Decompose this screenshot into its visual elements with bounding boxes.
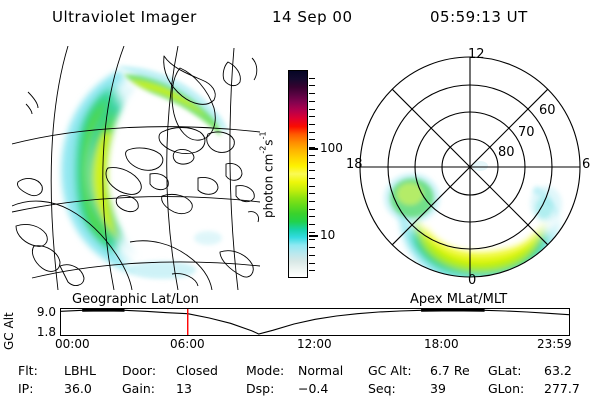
polar-dial-panel[interactable]: 121860607080	[340, 46, 596, 292]
status-value-glon: 277.7	[544, 380, 580, 397]
status-label-mode: Mode:	[246, 362, 284, 379]
orbit-y-axis-name: GC Alt	[2, 306, 16, 350]
status-block: Flt:LBHLDoor:ClosedMode:NormalGC Alt:6.7…	[0, 362, 600, 400]
instrument-title: Ultraviolet Imager	[52, 8, 197, 26]
status-value-seq: 39	[430, 380, 446, 397]
status-row-2: IP:36.0Gain:13Dsp:−0.4Seq:39GLon:277.7	[0, 380, 600, 397]
orbit-y-tick-max: 9.0	[26, 306, 56, 318]
colorbar-minor-tick	[309, 85, 315, 86]
geographic-image-panel[interactable]	[12, 46, 260, 290]
colorbar-minor-tick	[309, 239, 315, 240]
status-value-mode: Normal	[298, 362, 343, 379]
polar-dial-svg	[340, 46, 596, 292]
polar-latitude-label-60: 60	[539, 104, 556, 117]
orbit-altitude-trace-svg	[61, 309, 569, 335]
colorbar-minor-tick	[309, 209, 315, 210]
polar-mlt-label-12: 12	[468, 48, 485, 61]
aurora-dusk-knot	[384, 173, 440, 223]
colorbar-minor-tick	[309, 78, 315, 79]
polar-mlt-label-18: 18	[346, 158, 363, 171]
orbit-title-left: Geographic Lat/Lon	[72, 292, 199, 307]
status-label-door: Door:	[122, 362, 156, 379]
colorbar-title-text: photon cm-2s-1	[259, 132, 276, 219]
orbit-title-right: Apex MLat/MLT	[410, 292, 507, 307]
colorbar-minor-tick	[309, 270, 315, 271]
status-value-gain: 13	[176, 380, 192, 397]
orbit-x-tick-1800: 18:00	[424, 338, 459, 350]
orbit-y-tick-min: 1.8	[26, 326, 56, 338]
polar-mlt-label-6: 6	[582, 158, 590, 171]
colorbar-tick-label-10: 10	[320, 229, 335, 241]
colorbar-minor-tick	[309, 193, 315, 194]
orbit-plot-frame	[60, 308, 570, 336]
colorbar-minor-tick	[309, 216, 315, 217]
colorbar[interactable]: 10010	[286, 68, 310, 280]
status-label-glon: GLon:	[488, 380, 524, 397]
status-value-dsp: −0.4	[298, 380, 328, 397]
colorbar-minor-tick	[309, 170, 315, 171]
colorbar-minor-tick	[309, 263, 315, 264]
geographic-projection-svg	[12, 46, 260, 290]
status-label-dsp: Dsp:	[246, 380, 274, 397]
colorbar-gradient	[289, 71, 307, 277]
uvi-summary-plot: Ultraviolet Imager 14 Sep 00 05:59:13 UT	[0, 0, 600, 400]
colorbar-minor-tick	[309, 116, 315, 117]
status-value-ip: 36.0	[64, 380, 92, 397]
polar-mlt-spokes	[360, 57, 580, 277]
status-value-flt: LBHL	[64, 362, 96, 379]
status-value-gc-alt: 6.7 Re	[430, 362, 470, 379]
orbit-x-tick-0600: 06:00	[170, 338, 205, 350]
observation-time: 05:59:13 UT	[430, 8, 528, 26]
colorbar-minor-tick	[309, 155, 315, 156]
status-value-door: Closed	[176, 362, 218, 379]
status-label-flt: Flt:	[18, 362, 38, 379]
aurora-emission-geographic	[61, 70, 138, 274]
colorbar-minor-tick	[309, 178, 315, 179]
polar-latitude-label-80: 80	[498, 146, 515, 159]
polar-mlt-label-0: 0	[468, 274, 476, 287]
colorbar-minor-tick	[309, 93, 315, 94]
colorbar-minor-tick	[309, 247, 315, 248]
map-coastlines	[12, 56, 259, 290]
colorbar-major-tick	[309, 235, 318, 237]
status-label-ip: IP:	[18, 380, 33, 397]
colorbar-minor-tick	[309, 162, 315, 163]
status-label-glat: GLat:	[488, 362, 521, 379]
orbit-altitude-trace	[61, 310, 569, 334]
colorbar-minor-tick	[309, 101, 315, 102]
colorbar-minor-tick	[309, 132, 315, 133]
status-label-gain: Gain:	[122, 380, 155, 397]
colorbar-minor-tick	[309, 224, 315, 225]
colorbar-minor-tick	[309, 186, 315, 187]
colorbar-axis-title: photon cm-2s-1	[258, 90, 276, 260]
colorbar-minor-tick	[309, 232, 315, 233]
colorbar-minor-tick	[309, 201, 315, 202]
orbit-x-tick-1200: 12:00	[297, 338, 332, 350]
colorbar-minor-tick	[309, 109, 315, 110]
status-row-1: Flt:LBHLDoor:ClosedMode:NormalGC Alt:6.7…	[0, 362, 600, 379]
status-label-gc-alt: GC Alt:	[368, 362, 412, 379]
colorbar-major-tick	[309, 148, 318, 150]
polar-latitude-label-70: 70	[518, 126, 535, 139]
orbit-altitude-plot[interactable]: Geographic Lat/Lon Apex MLat/MLT GC Alt …	[0, 292, 600, 354]
colorbar-minor-tick	[309, 124, 315, 125]
status-label-seq: Seq:	[368, 380, 396, 397]
orbit-x-tick-0000: 00:00	[55, 338, 90, 350]
colorbar-minor-tick	[309, 255, 315, 256]
observation-date: 14 Sep 00	[272, 8, 352, 26]
colorbar-gradient-box	[288, 70, 308, 278]
orbit-x-tick-2359: 23:59	[537, 338, 572, 350]
status-value-glat: 63.2	[544, 362, 572, 379]
colorbar-minor-tick	[309, 139, 315, 140]
